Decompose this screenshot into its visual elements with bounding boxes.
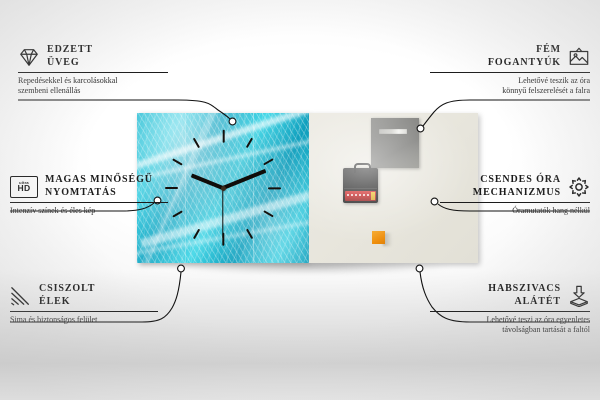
battery-label xyxy=(347,194,369,196)
feature-title: FÉMFOGANTYÚK xyxy=(488,44,561,69)
feature-high-quality-print[interactable]: ultra HD MAGAS MINŐSÉGŰNYOMTATÁS Intenzí… xyxy=(10,174,168,216)
feature-header: CSENDES ÓRAMECHANIZMUS xyxy=(440,174,590,199)
clock-tick xyxy=(193,137,200,147)
clock-tick xyxy=(172,158,182,165)
clock-tick xyxy=(268,187,281,189)
foam-pad xyxy=(372,231,385,244)
feature-desc: Sima és biztonságos felület xyxy=(10,315,158,325)
clock-hour-hand xyxy=(191,173,224,190)
feature-title: HABSZIVACSALÁTÉT xyxy=(488,283,561,308)
feature-rule xyxy=(18,72,168,73)
feature-metal-handles[interactable]: FÉMFOGANTYÚK Lehetővé teszik az órakönny… xyxy=(430,44,590,96)
feature-header: EDZETTÜVEG xyxy=(18,44,168,69)
infographic-canvas: EDZETTÜVEG Repedésekkel és karcolásokkal… xyxy=(0,0,600,400)
feature-rule xyxy=(430,72,590,73)
clock-tick xyxy=(263,211,273,218)
feature-header: HABSZIVACSALÁTÉT xyxy=(430,283,590,308)
feature-polished-edges[interactable]: CSISZOLTÉLEK Sima és biztonságos felület xyxy=(10,283,158,325)
feature-silent-mechanism[interactable]: CSENDES ÓRAMECHANIZMUS Óramutatók hang n… xyxy=(440,174,590,216)
feature-desc: Repedésekkel és karcolásokkalszembeni el… xyxy=(18,76,168,96)
feature-header: CSISZOLTÉLEK xyxy=(10,283,158,308)
foam-pad-shadow xyxy=(383,233,392,246)
gear-icon xyxy=(568,176,590,198)
feature-rule xyxy=(10,202,168,203)
battery xyxy=(345,191,376,201)
metal-hanger-bracket xyxy=(371,118,419,168)
ultra-hd-icon: ultra HD xyxy=(10,176,38,198)
diamond-icon xyxy=(18,46,40,68)
feature-title: CSISZOLTÉLEK xyxy=(39,283,95,308)
clock-tick xyxy=(193,228,200,238)
clock-tick xyxy=(246,228,253,238)
feature-header: ultra HD MAGAS MINŐSÉGŰNYOMTATÁS xyxy=(10,174,168,199)
feature-title: MAGAS MINŐSÉGŰNYOMTATÁS xyxy=(45,174,153,199)
mechanism-hanger-loop xyxy=(354,163,371,173)
feature-rule xyxy=(10,311,158,312)
feature-foam-backing[interactable]: HABSZIVACSALÁTÉT Lehetővé teszi az óra e… xyxy=(430,283,590,335)
clock-mechanism xyxy=(343,168,378,203)
clock-tick xyxy=(246,137,253,147)
bracket-slot xyxy=(379,129,407,134)
feature-desc: Óramutatók hang nélkül xyxy=(440,206,590,216)
clock-second-hand xyxy=(222,188,223,238)
mechanism-seam xyxy=(344,188,377,189)
picture-hanger-icon xyxy=(568,46,590,68)
feature-rule xyxy=(440,202,590,203)
clock-hub xyxy=(221,186,226,191)
clock-minute-hand xyxy=(222,169,266,190)
product-image xyxy=(137,113,478,263)
feature-rule xyxy=(430,311,590,312)
clock-tick xyxy=(263,158,273,165)
feature-desc: Intenzív színek és éles kép xyxy=(10,206,168,216)
polished-edges-icon xyxy=(10,285,32,307)
feature-desc: Lehetővé teszik az órakönnyű felszerelés… xyxy=(430,76,590,96)
feature-tempered-glass[interactable]: EDZETTÜVEG Repedésekkel és karcolásokkal… xyxy=(18,44,168,96)
clock-tick xyxy=(222,130,224,143)
feature-desc: Lehetővé teszi az óra egyenletestávolság… xyxy=(430,315,590,335)
feature-header: FÉMFOGANTYÚK xyxy=(430,44,590,69)
clock-tick xyxy=(172,211,182,218)
feature-title: EDZETTÜVEG xyxy=(47,44,93,69)
feature-title: CSENDES ÓRAMECHANIZMUS xyxy=(473,174,561,199)
foam-pad-press-icon xyxy=(568,285,590,307)
